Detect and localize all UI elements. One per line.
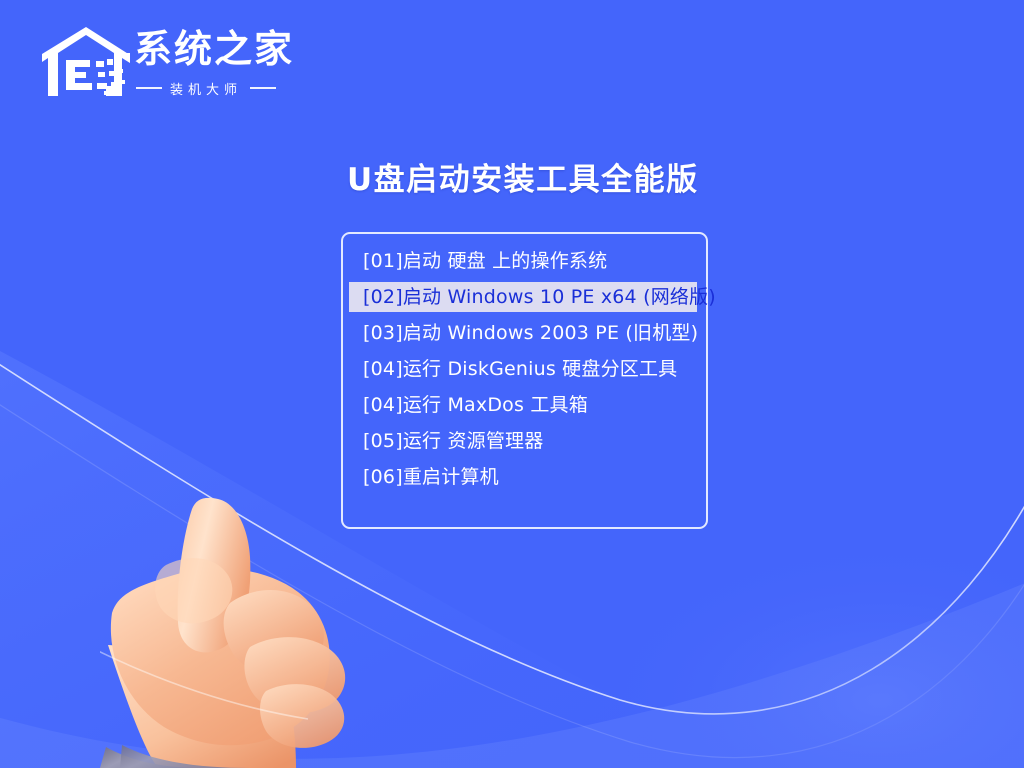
boot-menu-item-06-index: [06] <box>363 462 403 492</box>
boot-menu-item-02-index: [02] <box>363 282 403 312</box>
brand-tagline: 装机大师 <box>170 79 242 98</box>
boot-menu-item-01[interactable]: [01] 启动 硬盘 上的操作系统 <box>347 246 702 276</box>
boot-menu-item-06[interactable]: [06] 重启计算机 <box>347 462 702 492</box>
boot-menu-item-05-label: 运行 资源管理器 <box>403 426 544 456</box>
page-title: U盘启动安装工具全能版 <box>347 160 747 200</box>
brand-tagline-row: 装机大师 <box>136 78 304 98</box>
boot-menu-box: [01] 启动 硬盘 上的操作系统 [02] 启动 Windows 10 PE … <box>341 232 708 529</box>
brand-wordmark: 系统之家 <box>134 26 294 72</box>
boot-menu-item-05-index: [05] <box>363 426 403 456</box>
boot-menu-screen: 系统之家 装机大师 U盘启动安装工具全能版 [01] 启动 硬盘 上的操作系统 … <box>0 0 1024 768</box>
boot-menu-item-04-diskgenius-index: [04] <box>363 354 403 384</box>
boot-menu-list: [01] 启动 硬盘 上的操作系统 [02] 启动 Windows 10 PE … <box>347 246 702 498</box>
boot-menu-item-02[interactable]: [02] 启动 Windows 10 PE x64 (网络版) <box>349 282 697 312</box>
boot-menu-item-06-label: 重启计算机 <box>403 462 499 492</box>
boot-menu-item-02-label: 启动 Windows 10 PE x64 (网络版) <box>403 282 716 312</box>
boot-menu-item-03[interactable]: [03] 启动 Windows 2003 PE (旧机型) <box>347 318 702 348</box>
boot-menu-item-05[interactable]: [05] 运行 资源管理器 <box>347 426 702 456</box>
boot-menu-item-03-label: 启动 Windows 2003 PE (旧机型) <box>403 318 698 348</box>
boot-menu-item-04-diskgenius[interactable]: [04] 运行 DiskGenius 硬盘分区工具 <box>347 354 702 384</box>
boot-menu-item-01-index: [01] <box>363 246 403 276</box>
house-chip-logo-icon <box>40 22 136 102</box>
corner-glow <box>580 530 1024 768</box>
boot-menu-item-01-label: 启动 硬盘 上的操作系统 <box>403 246 607 276</box>
boot-menu-item-04-maxdos[interactable]: [04] 运行 MaxDos 工具箱 <box>347 390 702 420</box>
boot-menu-item-04-diskgenius-label: 运行 DiskGenius 硬盘分区工具 <box>403 354 678 384</box>
boot-menu-item-04-maxdos-index: [04] <box>363 390 403 420</box>
boot-menu-item-03-index: [03] <box>363 318 403 348</box>
tagline-rule-right <box>250 87 276 89</box>
tagline-rule-left <box>136 87 162 89</box>
boot-menu-item-04-maxdos-label: 运行 MaxDos 工具箱 <box>403 390 588 420</box>
brand-logo: 系统之家 装机大师 <box>40 18 290 110</box>
pointing-hand-illustration <box>100 495 400 768</box>
